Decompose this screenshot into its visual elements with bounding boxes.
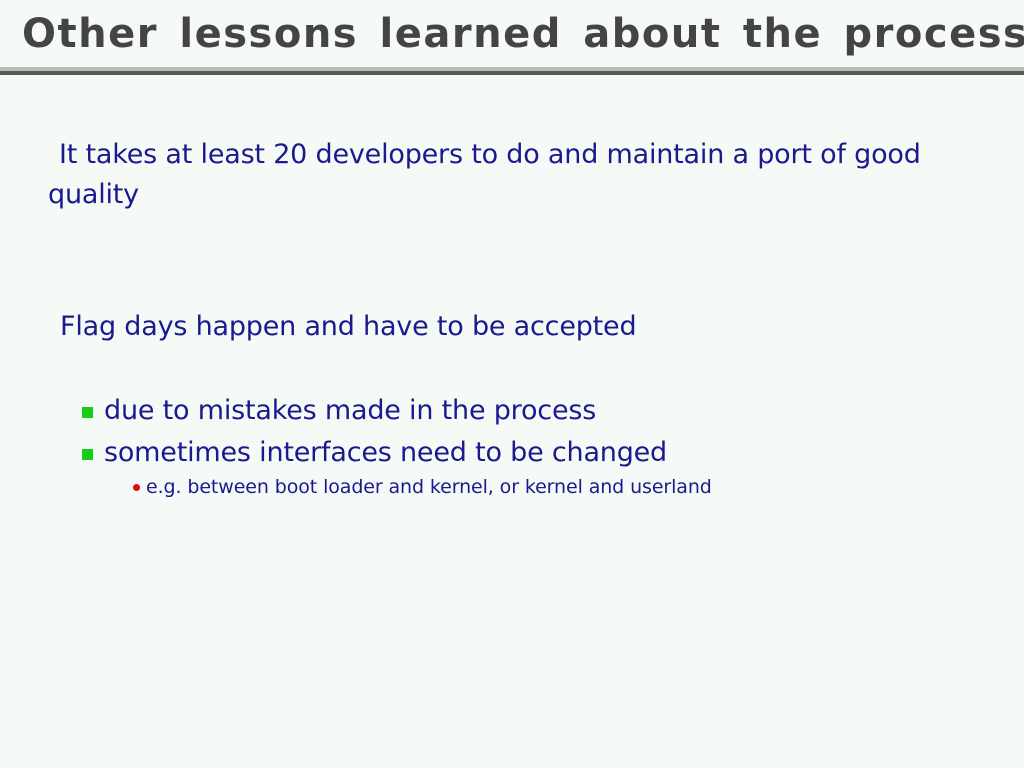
page-title: Other lessons learned about the process xyxy=(22,8,1002,60)
developers-paragraph: It takes at least 20 developers to do an… xyxy=(48,135,958,215)
dot-bullet-icon xyxy=(133,484,140,491)
developers-paragraph-text: It takes at least 20 developers to do an… xyxy=(48,139,921,210)
sub-bullet-list: e.g. between boot loader and kernel, or … xyxy=(104,473,982,501)
square-bullet-icon xyxy=(82,407,93,418)
list-item: sometimes interfaces need to be changed … xyxy=(82,435,982,501)
sub-bullet-label: e.g. between boot loader and kernel, or … xyxy=(146,476,712,498)
title-divider xyxy=(0,67,1024,75)
bullet-label: sometimes interfaces need to be changed xyxy=(104,437,667,468)
bullet-label: due to mistakes made in the process xyxy=(104,395,596,426)
presentation-slide: Other lessons learned about the process … xyxy=(0,0,1024,768)
list-item: due to mistakes made in the process xyxy=(82,393,982,429)
square-bullet-icon xyxy=(82,449,93,460)
bullet-list: due to mistakes made in the process some… xyxy=(82,393,982,507)
slide-body: It takes at least 20 developers to do an… xyxy=(0,75,1024,768)
list-item: e.g. between boot loader and kernel, or … xyxy=(104,473,982,501)
flag-days-paragraph: Flag days happen and have to be accepted xyxy=(60,307,960,347)
